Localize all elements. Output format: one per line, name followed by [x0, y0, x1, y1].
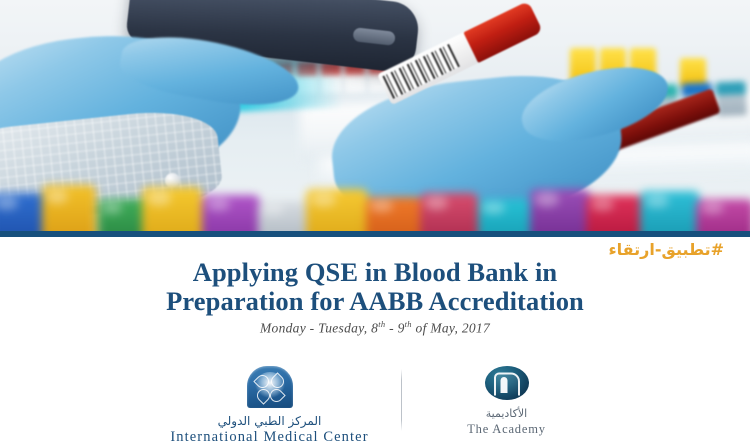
academy-arabic-name: الأكاديمية [486, 407, 527, 421]
scanner-lens [352, 27, 395, 46]
title-line-2: Preparation for AABB Accreditation [0, 287, 750, 316]
dateline-day2: 9 [398, 321, 405, 336]
dateline-days: Monday - Tuesday, [260, 321, 367, 336]
logo-international-medical-center: المركز الطبي الدولي International Medica… [139, 366, 401, 445]
imc-arabic-name: المركز الطبي الدولي [218, 414, 322, 429]
dateline-year: 2017 [462, 321, 490, 336]
logo-the-academy: الأكاديمية The Academy [402, 366, 612, 437]
imc-english-name: International Medical Center [170, 429, 368, 445]
arabic-hashtag: #تطبيق-ارتقاء [608, 240, 724, 259]
event-dateline: Monday - Tuesday, 8th - 9th of May, 2017 [0, 319, 750, 337]
academy-door [501, 377, 508, 393]
banner-photo [0, 0, 750, 231]
academy-english-name: The Academy [467, 421, 546, 437]
title-line-1: Applying QSE in Blood Bank in [193, 257, 558, 287]
dateline-day2-suffix: th [405, 319, 412, 329]
page-title: Applying QSE in Blood Bank in Preparatio… [0, 258, 750, 316]
event-poster: #تطبيق-ارتقاء Applying QSE in Blood Bank… [0, 0, 750, 445]
logo-row: المركز الطبي الدولي International Medica… [0, 366, 750, 442]
navy-divider-band [0, 231, 750, 237]
dateline-separator: - [389, 321, 394, 336]
dateline-day1-suffix: th [378, 319, 385, 329]
academy-oval-logo-icon [485, 366, 529, 400]
colored-vial-caps [0, 145, 750, 231]
imc-shield-logo-icon [247, 366, 293, 408]
dateline-month: of May, [416, 321, 459, 336]
